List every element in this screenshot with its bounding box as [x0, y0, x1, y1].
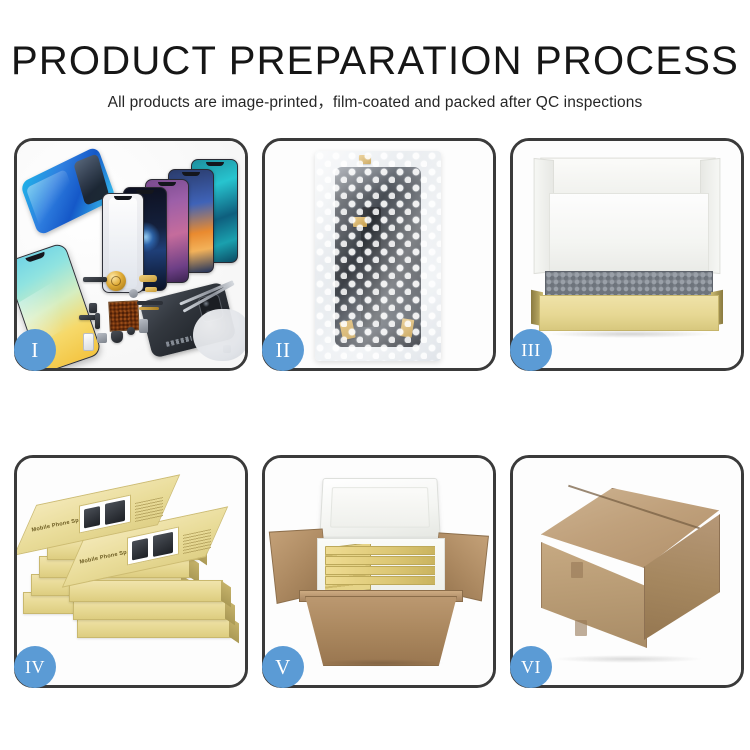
window-phone-a — [132, 538, 148, 560]
phone-notch — [206, 162, 224, 166]
white-foam-sheet — [549, 193, 709, 275]
spare-part-gold-clip — [139, 275, 157, 282]
phone-notch — [114, 196, 132, 200]
step-image-4: Mobile Phone Spare Parts Mobile Phone Sp… — [17, 458, 245, 685]
plastic-sheen — [315, 151, 441, 361]
flex-cable-1 — [137, 301, 163, 305]
box-stack: Mobile Phone Spare Parts Mobile Phone Sp… — [23, 476, 239, 672]
step-image-5 — [265, 458, 493, 685]
step-image-1 — [17, 141, 245, 368]
step-badge-4: IV — [14, 646, 56, 688]
spare-part-connector — [89, 303, 97, 313]
step-badge-5: V — [262, 646, 304, 688]
window-phone-a — [84, 506, 100, 528]
spare-part-strip — [83, 277, 107, 282]
product-box-row-2 — [325, 556, 435, 565]
step-badge-1: I — [14, 329, 56, 371]
box-shadow — [547, 330, 713, 338]
carton-front-panel — [305, 596, 457, 666]
spare-part-button — [127, 327, 135, 335]
header: PRODUCT PREPARATION PROCESS All products… — [0, 38, 750, 112]
step-panel-1: I — [14, 138, 248, 371]
technician-hand — [193, 309, 245, 361]
gold-coil-part — [106, 271, 126, 291]
spare-part-camera-cover — [139, 319, 148, 333]
window-phone-b — [153, 532, 173, 557]
carton-tape-upper — [571, 562, 583, 578]
bubble-wrap-bag — [315, 151, 441, 361]
step-panel-3: III — [510, 138, 744, 371]
step-panel-6: VI — [510, 455, 744, 688]
carton-shadow — [553, 655, 703, 663]
step-panel-4: Mobile Phone Spare Parts Mobile Phone Sp… — [14, 455, 248, 688]
spare-part-gold-small — [145, 287, 157, 292]
copper-grid-chip — [108, 300, 140, 332]
step-badge-2: II — [262, 329, 304, 371]
phone-notch — [182, 172, 200, 176]
process-steps-grid: I II — [14, 138, 736, 688]
stacked-box-front-3 — [69, 580, 223, 602]
packed-product-boxes — [325, 544, 435, 592]
housing-text-mark — [166, 336, 192, 347]
spare-part-speaker — [111, 331, 123, 343]
step-panel-2: II — [262, 138, 496, 371]
window-phone-b — [105, 500, 125, 525]
step-badge-6: VI — [510, 646, 552, 688]
spare-part-flex-2 — [95, 313, 100, 329]
product-box-row-4 — [325, 576, 435, 585]
product-box-row-3 — [325, 566, 435, 575]
page-title: PRODUCT PREPARATION PROCESS — [0, 38, 750, 84]
page-subtitle: All products are image-printed，film-coat… — [0, 90, 750, 112]
step-badge-3: III — [510, 329, 552, 371]
kraft-box-front — [539, 295, 719, 331]
protector-highlight — [26, 169, 80, 228]
step-panel-5: V — [262, 455, 496, 688]
phone-notch — [158, 182, 176, 186]
spare-part-metal-bracket — [97, 333, 107, 343]
carton-shadow — [317, 659, 445, 667]
carton-tape-lower — [575, 620, 587, 636]
product-box-row-1 — [325, 546, 435, 555]
product-preparation-infographic: PRODUCT PREPARATION PROCESS All products… — [0, 0, 750, 750]
spare-part-ring — [129, 289, 138, 298]
step-image-6 — [513, 458, 741, 685]
spare-part-white-chip — [83, 333, 94, 351]
step-image-2 — [265, 141, 493, 368]
phone-fan-group — [91, 157, 241, 287]
flex-cable-2 — [139, 307, 159, 310]
step-image-3 — [513, 141, 741, 368]
foam-cooler-lid — [319, 478, 440, 538]
